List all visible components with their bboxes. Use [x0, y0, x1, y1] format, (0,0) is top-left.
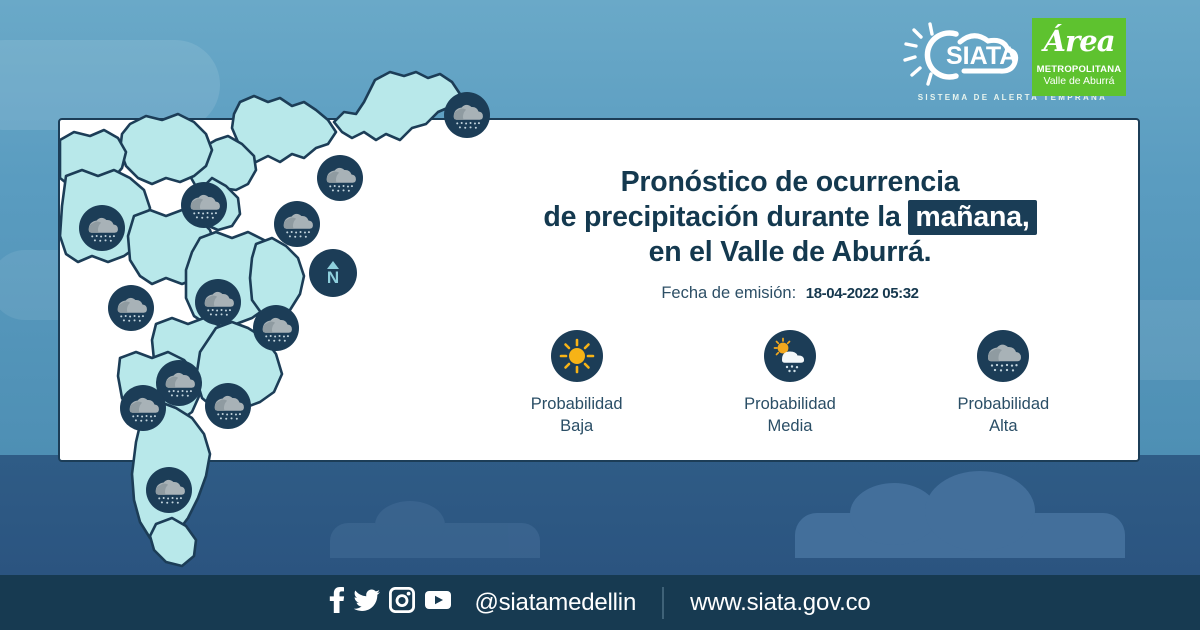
sun-cloud-rain-icon — [764, 330, 816, 382]
legend-label-line2: Alta — [989, 417, 1017, 435]
title-line-1: Pronóstico de ocurrencia — [470, 165, 1110, 200]
map-marker-girardota — [317, 155, 363, 201]
title-line-2-text: de precipitación durante la — [543, 201, 900, 233]
forecast-text-block: Pronóstico de ocurrencia de precipitació… — [470, 165, 1110, 303]
footer-bar: @siatamedellin www.siata.gov.co — [0, 575, 1200, 630]
map-marker-la-estrella — [120, 385, 166, 431]
footer-divider — [662, 587, 664, 619]
legend-item-medium: ProbabilidadMedia — [700, 330, 880, 437]
legend-label: ProbabilidadMedia — [700, 393, 880, 437]
decorative-cloud-icon — [0, 40, 220, 130]
legend-item-low: ProbabilidadBaja — [487, 330, 667, 437]
title-line-3: en el Valle de Aburrá. — [470, 235, 1110, 270]
cloud-rain-icon — [79, 205, 125, 251]
legend-label-line1: Probabilidad — [531, 395, 623, 413]
website-url[interactable]: www.siata.gov.co — [690, 589, 870, 617]
emission-date-label: Fecha de emisión: — [661, 284, 796, 302]
map-marker-copacabana — [274, 201, 320, 247]
map-marker-bello-norte — [79, 205, 125, 251]
area-logo-line1: METROPOLITANA — [1032, 64, 1126, 75]
cloud-rain-icon — [444, 92, 490, 138]
siata-sun-cloud-logo: SIATA — [900, 20, 1030, 90]
legend-label-line2: Media — [768, 417, 813, 435]
legend-label-line1: Probabilidad — [957, 395, 1049, 413]
title-line-2: de precipitación durante la mañana, — [470, 200, 1110, 235]
page-title: Pronóstico de ocurrencia de precipitació… — [470, 165, 1110, 270]
decorative-cloud-icon — [795, 513, 1125, 558]
legend-label: ProbabilidadBaja — [487, 393, 667, 437]
map-marker-barbosa — [444, 92, 490, 138]
cloud-rain-icon — [120, 385, 166, 431]
legend-label-line2: Baja — [560, 417, 593, 435]
youtube-icon[interactable] — [424, 589, 452, 616]
title-highlight-period: mañana, — [908, 200, 1036, 235]
twitter-icon[interactable] — [354, 587, 380, 618]
area-metropolitana-logo: Área METROPOLITANA Valle de Aburrá — [1032, 18, 1126, 96]
legend-item-high: ProbabilidadAlta — [913, 330, 1093, 437]
cloud-rain-icon — [195, 279, 241, 325]
map-marker-medellin-norte — [108, 285, 154, 331]
map-marker-san-pedro — [181, 182, 227, 228]
area-logo-line2: Valle de Aburrá — [1032, 75, 1126, 88]
cloud-rain-icon — [274, 201, 320, 247]
legend-label-line1: Probabilidad — [744, 395, 836, 413]
emission-date-row: Fecha de emisión: 18-04-2022 05:32 — [470, 284, 1110, 303]
cloud-rain-icon — [253, 305, 299, 351]
map-marker-sabaneta — [205, 383, 251, 429]
probability-legend: ProbabilidadBajaProbabilidadMediaProbabi… — [470, 330, 1110, 437]
legend-label: ProbabilidadAlta — [913, 393, 1093, 437]
north-arrow-label: N — [327, 270, 339, 285]
social-icons — [329, 587, 452, 618]
map-marker-medellin — [253, 305, 299, 351]
cloud-rain-icon — [977, 330, 1029, 382]
social-handle[interactable]: @siatamedellin — [474, 589, 636, 617]
cloud-rain-icon — [205, 383, 251, 429]
facebook-icon[interactable] — [329, 587, 345, 618]
cloud-rain-icon — [181, 182, 227, 228]
emission-date-value: 18-04-2022 05:32 — [806, 285, 919, 302]
decorative-cloud-icon — [330, 523, 540, 558]
cloud-rain-icon — [146, 467, 192, 513]
map-marker-bello — [195, 279, 241, 325]
north-arrow-icon: N — [309, 249, 357, 297]
svg-text:SIATA: SIATA — [946, 42, 1017, 70]
area-logo-script: Área — [1032, 18, 1126, 64]
map-marker-envigado — [146, 467, 192, 513]
cloud-rain-icon — [108, 285, 154, 331]
instagram-icon[interactable] — [389, 587, 415, 618]
cloud-rain-icon — [317, 155, 363, 201]
sun-icon — [551, 330, 603, 382]
